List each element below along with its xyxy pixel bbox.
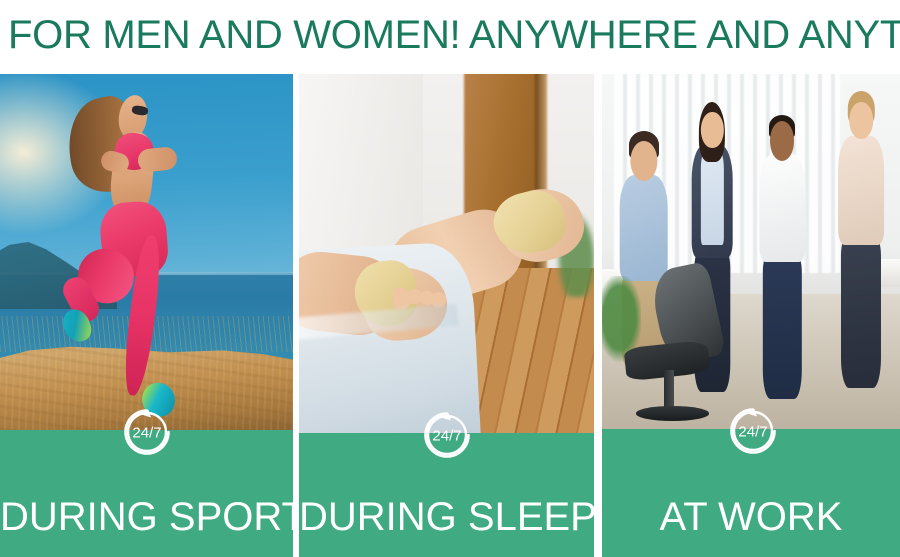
badge-label: 24/7 — [132, 425, 161, 442]
head — [849, 102, 873, 139]
torso — [838, 136, 884, 245]
scene-runner — [0, 74, 293, 430]
headline-text: FOR MEN AND WOMEN! ANYWHERE AND ANYTIME! — [8, 15, 900, 55]
shirt — [701, 152, 723, 245]
person-woman-blonde — [826, 81, 898, 422]
caption-at-work: AT WORK — [602, 495, 900, 539]
chair-base — [636, 406, 709, 421]
badge-24-7: 24/7 — [727, 405, 779, 457]
photo-during-sports — [0, 74, 293, 430]
badge-24-7: 24/7 — [421, 409, 473, 461]
panel-row: 24/7 DURING SPORTS — [0, 70, 900, 557]
panel-at-work[interactable]: 24/7 AT WORK — [602, 70, 900, 557]
head — [701, 112, 723, 149]
caption-during-sleep: DURING SLEEP — [299, 495, 594, 539]
runner-figure — [64, 88, 228, 423]
torso — [760, 154, 805, 262]
scene-feet-on-bed — [299, 74, 594, 433]
promo-banner: FOR MEN AND WOMEN! ANYWHERE AND ANYTIME! — [0, 0, 900, 557]
headline: FOR MEN AND WOMEN! ANYWHERE AND ANYTIME! — [0, 0, 900, 70]
head — [770, 121, 794, 160]
door-edge — [535, 74, 547, 297]
badge-24-7: 24/7 — [121, 406, 173, 458]
panel-during-sports[interactable]: 24/7 DURING SPORTS — [0, 70, 293, 557]
legs — [841, 238, 881, 388]
badge-label: 24/7 — [738, 424, 767, 441]
caption-during-sports: DURING SPORTS — [0, 495, 293, 539]
caption-band-during-sleep: 24/7 DURING SLEEP — [299, 433, 594, 557]
photo-during-sleep — [299, 74, 594, 433]
panel-during-sleep[interactable]: 24/7 DURING SLEEP — [299, 70, 594, 557]
legs — [763, 255, 801, 399]
head — [630, 141, 657, 182]
runner-front-arm — [137, 146, 179, 173]
scene-office — [602, 74, 900, 429]
badge-label: 24/7 — [432, 428, 461, 445]
caption-band-during-sports: 24/7 DURING SPORTS — [0, 430, 293, 557]
photo-at-work — [602, 74, 900, 429]
person-man-white-shirt — [748, 95, 817, 422]
caption-band-at-work: 24/7 AT WORK — [602, 429, 900, 557]
